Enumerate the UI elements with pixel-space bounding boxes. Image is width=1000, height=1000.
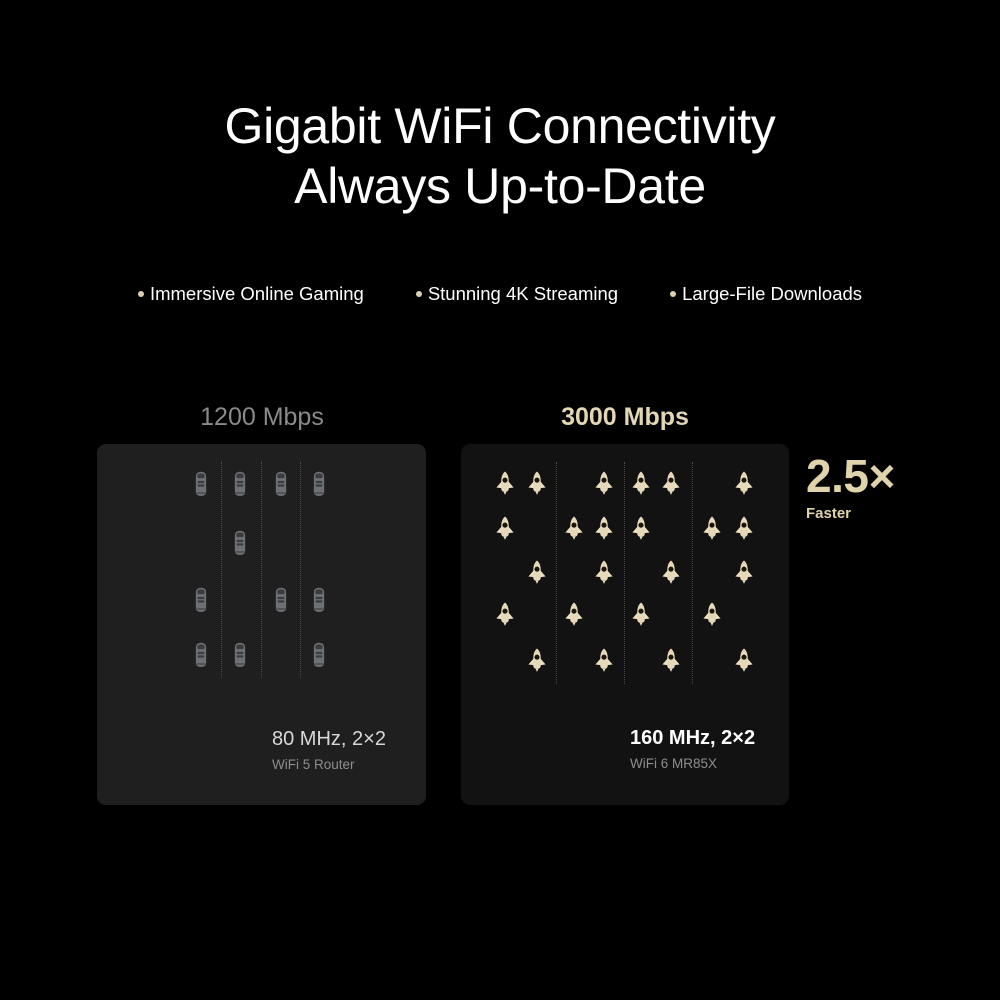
speed-label-wifi6: 3000 Mbps	[461, 402, 789, 432]
promo-banner: Gigabit WiFi Connectivity Always Up-to-D…	[0, 0, 1000, 1000]
rocket-icon	[631, 516, 651, 545]
rocket-icon	[702, 602, 722, 631]
car-icon	[273, 587, 288, 617]
bullet-dot-icon	[416, 291, 422, 297]
rocket-icon	[661, 648, 681, 677]
car-icon	[232, 471, 247, 501]
rocket-icon	[702, 516, 722, 545]
rocket-icon	[594, 560, 614, 589]
car-icon	[311, 587, 326, 617]
caption-wifi5: 80 MHz, 2×2 WiFi 5 Router	[272, 727, 386, 774]
rocket-icon	[527, 648, 547, 677]
list-item: Large-File Downloads	[670, 283, 862, 305]
caption-main: 80 MHz, 2×2	[272, 727, 386, 752]
bullet-dot-icon	[138, 291, 144, 297]
page-title: Gigabit WiFi Connectivity Always Up-to-D…	[0, 96, 1000, 216]
caption-wifi6: 160 MHz, 2×2 WiFi 6 MR85X	[630, 726, 755, 773]
badge-sub-label: Faster	[806, 504, 895, 524]
rocket-icon	[734, 471, 754, 500]
rocket-icon	[495, 516, 515, 545]
rocket-icon	[594, 471, 614, 500]
feature-bullet-list: Immersive Online Gaming Stunning 4K Stre…	[0, 283, 1000, 305]
list-item-label: Immersive Online Gaming	[150, 283, 364, 305]
rocket-icon	[734, 516, 754, 545]
car-icon	[311, 471, 326, 501]
rocket-icon	[631, 471, 651, 500]
rocket-icon	[734, 648, 754, 677]
rocket-icon	[527, 560, 547, 589]
rocket-icon	[594, 648, 614, 677]
rocket-icon	[594, 516, 614, 545]
rocket-icon	[631, 602, 651, 631]
caption-sub: WiFi 6 MR85X	[630, 754, 755, 773]
rocket-icon	[527, 471, 547, 500]
rocket-icon	[734, 560, 754, 589]
car-icon	[232, 530, 247, 560]
bullet-dot-icon	[670, 291, 676, 297]
car-icon	[232, 642, 247, 672]
list-item-label: Large-File Downloads	[682, 283, 862, 305]
rocket-icon	[495, 471, 515, 500]
car-icon	[193, 642, 208, 672]
rocket-icon	[661, 560, 681, 589]
rocket-icon	[564, 516, 584, 545]
list-item: Immersive Online Gaming	[138, 283, 364, 305]
car-icon	[193, 471, 208, 501]
car-icon	[273, 471, 288, 501]
caption-sub: WiFi 5 Router	[272, 755, 386, 774]
car-icon	[311, 642, 326, 672]
list-item: Stunning 4K Streaming	[416, 283, 618, 305]
speed-multiplier-badge: 2.5× Faster	[806, 452, 895, 524]
rocket-icon	[495, 602, 515, 631]
car-icon	[193, 587, 208, 617]
rocket-icon	[564, 602, 584, 631]
caption-main: 160 MHz, 2×2	[630, 726, 755, 751]
speed-label-wifi5: 1200 Mbps	[97, 402, 427, 432]
badge-multiplier: 2.5×	[806, 452, 895, 500]
rocket-icon	[661, 471, 681, 500]
list-item-label: Stunning 4K Streaming	[428, 283, 618, 305]
